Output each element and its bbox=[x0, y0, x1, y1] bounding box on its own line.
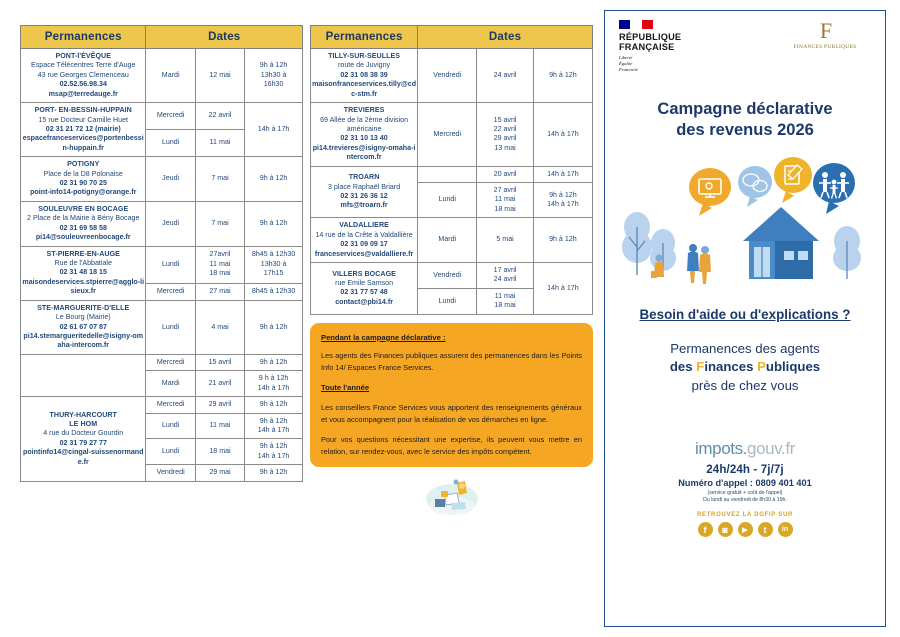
cell-line: ST-PIERRE-EN-AUGE bbox=[22, 250, 144, 259]
slot-date-cell: 15 avril bbox=[195, 354, 244, 370]
instagram-icon[interactable]: ◙ bbox=[718, 522, 733, 537]
cell-line: Mercredi bbox=[147, 400, 193, 409]
slot-day-cell bbox=[418, 166, 477, 182]
cell-line: PONT-l'ÉVÊQUE bbox=[22, 52, 144, 61]
location-address: 69 Allée de la 2ème division américaine bbox=[312, 116, 416, 135]
cell-line: 29 avril bbox=[478, 134, 531, 143]
cell-line: Vendredi bbox=[147, 468, 193, 477]
location-address: 14 rue de la Crête à Valdallière bbox=[312, 231, 416, 240]
col-header-permanences: Permanences bbox=[311, 26, 418, 49]
main-illustration bbox=[605, 155, 885, 305]
republic-line-2: FRANÇAISE bbox=[619, 42, 711, 52]
slot-date-cell: 29 avril bbox=[195, 397, 244, 413]
phone-note-2: Du lundi au vendredi de 8h30 à 19h. bbox=[605, 497, 885, 503]
slot-day-cell: Mercredi bbox=[146, 283, 195, 300]
cell-line: 22 avril bbox=[197, 111, 243, 120]
cell-line: 9h à 12h bbox=[246, 61, 301, 70]
cell-line: 15 avril bbox=[478, 116, 531, 125]
french-flag-icon bbox=[619, 20, 653, 29]
table-row: Mercredi15 avril9h à 12h bbox=[21, 354, 303, 370]
cell-line: 24 avril bbox=[478, 275, 531, 284]
permanence-location-cell: VALDALLIERE14 rue de la Crête à Valdalli… bbox=[311, 218, 418, 263]
slot-hours-cell: 9h à 12h bbox=[245, 465, 303, 481]
cell-line: rue Emile Samson bbox=[312, 279, 416, 288]
subtitle-des: des bbox=[670, 359, 696, 374]
cell-line: Jeudi bbox=[147, 219, 193, 228]
table-row: VALDALLIERE14 rue de la Crête à Valdalli… bbox=[311, 218, 593, 263]
cell-line: Lundi bbox=[419, 297, 475, 306]
permanence-location-cell: ST-PIERRE-EN-AUGERue de l'Abbatiale02 31… bbox=[21, 246, 146, 300]
cell-line: Rue de l'Abbatiale bbox=[22, 259, 144, 268]
left-column: Permanences Dates PONT-l'ÉVÊQUEEspace Té… bbox=[20, 25, 303, 482]
slot-day-cell: Lundi bbox=[146, 300, 195, 354]
subtitle-inances: inances bbox=[704, 359, 757, 374]
location-address: Rue de l'Abbatiale bbox=[22, 259, 144, 268]
location-email: pointinfo14@cingal-suissenormande.fr bbox=[22, 448, 144, 467]
location-address: 15 rue Docteur Camille Huet bbox=[22, 116, 144, 125]
table-header-row: Permanences Dates bbox=[21, 26, 303, 49]
slot-date-cell: 27 mai bbox=[195, 283, 244, 300]
cell-line: 9h à 12h bbox=[246, 358, 301, 367]
slot-day-cell: Lundi bbox=[146, 413, 195, 439]
cell-line: Lundi bbox=[147, 447, 193, 456]
location-phone: 02 61 67 07 87 bbox=[22, 323, 144, 332]
location-email: pi14@souleuvreenbocage.fr bbox=[22, 233, 144, 242]
location-name: SOULEUVRE EN BOCAGE bbox=[22, 205, 144, 214]
permanence-location-cell: VILLERS BOCAGErue Emile Samson02 31 77 5… bbox=[311, 263, 418, 315]
cell-line: Mercredi bbox=[147, 111, 193, 120]
slot-day-cell: Jeudi bbox=[146, 157, 195, 202]
tree-icon bbox=[833, 226, 861, 279]
cell-line: 9h à 12h bbox=[246, 174, 301, 183]
youtube-icon[interactable]: ▶ bbox=[738, 522, 753, 537]
slot-date-cell: 5 mai bbox=[477, 218, 533, 263]
cell-line: PORT- EN-BESSIN-HUPPAIN bbox=[22, 106, 144, 115]
location-email: contact@pbi14.fr bbox=[312, 298, 416, 307]
location-name: VALDALLIERE bbox=[312, 221, 416, 230]
cell-line: 8h45 à 12h30 bbox=[246, 287, 301, 296]
table-row: POTIGNYPlace de la D8 Polonaise02 31 90 … bbox=[21, 157, 303, 202]
cell-line: 17h15 bbox=[246, 269, 301, 278]
cell-line: 24 avril bbox=[478, 71, 531, 80]
col-header-dates: Dates bbox=[146, 26, 303, 49]
location-phone: 02 31 09 09 17 bbox=[312, 240, 416, 249]
slot-day-cell: Mercredi bbox=[418, 103, 477, 167]
slot-hours-cell: 9h à 12h14h à 17h bbox=[533, 183, 592, 218]
cell-line: Lundi bbox=[147, 323, 193, 332]
help-question: Besoin d'aide ou d'explications ? bbox=[605, 307, 885, 322]
cell-line: 18 mai bbox=[478, 301, 531, 310]
slot-hours-cell: 9 h à 12h14h à 17h bbox=[245, 371, 303, 397]
location-email: franceservices@valdalliere.fr bbox=[312, 250, 416, 259]
cell-line: 11 mai bbox=[197, 260, 243, 269]
permanences-table-middle: Permanences Dates TILLY-SUR-SEULLESroute… bbox=[310, 25, 593, 315]
location-name: TROARN bbox=[312, 173, 416, 182]
table-row: TROARN3 place Raphaël Briard02 31 26 36 … bbox=[311, 166, 593, 182]
location-name: PONT-l'ÉVÊQUE bbox=[22, 52, 144, 61]
location-address: Le Bourg (Mairie) bbox=[22, 313, 144, 322]
location-email: espacefranceservices@portenbessin-huppai… bbox=[22, 134, 144, 153]
slot-day-cell: Vendredi bbox=[418, 263, 477, 289]
cell-line: 14h à 17h bbox=[535, 130, 591, 139]
slot-hours-cell: 9h à 12h bbox=[245, 354, 303, 370]
location-name: PORT- EN-BESSIN-HUPPAIN bbox=[22, 106, 144, 115]
cell-line: LE HOM bbox=[22, 420, 144, 429]
cell-line: THURY-HARCOURT bbox=[22, 411, 144, 420]
people-icon bbox=[687, 244, 711, 284]
cell-line: 5 mai bbox=[478, 235, 531, 244]
permanence-location-cell: TILLY-SUR-SEULLESroute de Juvigny02 31 0… bbox=[311, 49, 418, 103]
info-para-3: Pour vos questions nécessitant une exper… bbox=[321, 434, 582, 457]
cell-line: 27 avril bbox=[478, 186, 531, 195]
table-row: ST-PIERRE-EN-AUGERue de l'Abbatiale02 31… bbox=[21, 246, 303, 283]
middle-column: Permanences Dates TILLY-SUR-SEULLESroute… bbox=[310, 25, 593, 522]
brochure-page: Permanences Dates PONT-l'ÉVÊQUEEspace Té… bbox=[0, 0, 900, 637]
slot-date-cell: 7 mai bbox=[195, 157, 244, 202]
location-name: ST-PIERRE-EN-AUGE bbox=[22, 250, 144, 259]
cell-line: 14h à 17h bbox=[246, 125, 301, 134]
speech-bubble-screen bbox=[689, 168, 731, 216]
slot-date-cell: 11 mai bbox=[195, 413, 244, 439]
table-header-row: Permanences Dates bbox=[311, 26, 593, 49]
subtitle-p: P bbox=[757, 359, 766, 374]
title-line-2: des revenus 2026 bbox=[615, 120, 875, 141]
cell-line: Le Bourg (Mairie) bbox=[22, 313, 144, 322]
permanence-location-cell: POTIGNYPlace de la D8 Polonaise02 31 90 … bbox=[21, 157, 146, 202]
cell-line: 9h à 12h bbox=[535, 191, 591, 200]
permanence-location-cell: STE-MARGUERITE-D'ELLELe Bourg (Mairie)02… bbox=[21, 300, 146, 354]
slot-date-cell: 21 avril bbox=[195, 371, 244, 397]
cell-line: Vendredi bbox=[419, 71, 475, 80]
permanence-location-cell: TROARN3 place Raphaël Briard02 31 26 36 … bbox=[311, 166, 418, 218]
location-address: rue Emile Samson bbox=[312, 279, 416, 288]
cell-line: route de Juvigny bbox=[312, 61, 416, 70]
twitter-icon[interactable]: t bbox=[758, 522, 773, 537]
permanences-table-left: Permanences Dates PONT-l'ÉVÊQUEEspace Té… bbox=[20, 25, 303, 482]
slot-hours-cell: 9h à 12h14h à 17h bbox=[245, 439, 303, 465]
slot-day-cell: Mardi bbox=[418, 218, 477, 263]
cell-line: Jeudi bbox=[147, 174, 193, 183]
panel-subtitle: Permanences des agents des Finances Publ… bbox=[605, 340, 885, 395]
website-logo[interactable]: impots.gouv.fr bbox=[605, 439, 885, 459]
location-phone: 02 31 21 72 12 (mairie) bbox=[22, 125, 144, 134]
cell-line: 14h à 17h bbox=[246, 426, 301, 435]
slot-date-cell: 17 avril24 avril bbox=[477, 263, 533, 289]
info-heading-1: Pendant la campagne déclarative : bbox=[321, 332, 582, 344]
cell-line: 9 h à 12h bbox=[246, 374, 301, 383]
subtitle-line-2: des Finances Publiques bbox=[605, 358, 885, 376]
cell-line: 43 rue Georges Clemenceau bbox=[22, 71, 144, 80]
location-address: Espace Télécentres Terre d'Auge43 rue Ge… bbox=[22, 61, 144, 80]
cell-line: 11 mai bbox=[197, 421, 243, 430]
slot-hours-cell: 14h à 17h bbox=[245, 103, 303, 157]
permanence-location-cell: THURY-HARCOURTLE HOM4 rue du Docteur Gou… bbox=[21, 397, 146, 482]
slot-date-cell: 12 mai bbox=[195, 49, 244, 103]
cell-line: SOULEUVRE EN BOCAGE bbox=[22, 205, 144, 214]
location-address: 4 rue du Docteur Gourdin bbox=[22, 429, 144, 438]
speech-bubble-chat bbox=[738, 166, 772, 207]
title-line-1: Campagne déclarative bbox=[615, 99, 875, 120]
cell-line: 29 avril bbox=[197, 400, 243, 409]
location-name: TILLY-SUR-SEULLES bbox=[312, 52, 416, 61]
subtitle-line-3: près de chez vous bbox=[605, 377, 885, 395]
cell-line: 12 mai bbox=[197, 71, 243, 80]
site-gouv: gouv.fr bbox=[747, 439, 795, 458]
cell-line: 15 rue Docteur Camille Huet bbox=[22, 116, 144, 125]
cell-line: 4 rue du Docteur Gourdin bbox=[22, 429, 144, 438]
cell-line: 29 mai bbox=[197, 468, 243, 477]
slot-hours-cell: 9h à 12h bbox=[533, 218, 592, 263]
cell-line: 21 avril bbox=[197, 379, 243, 388]
location-name: POTIGNY bbox=[22, 160, 144, 169]
location-phone: 02 31 10 13 40 bbox=[312, 134, 416, 143]
slot-hours-cell: 9h à 12h bbox=[245, 300, 303, 354]
cell-line: 15 avril bbox=[197, 358, 243, 367]
availability: 24h/24h - 7j/7j bbox=[605, 463, 885, 476]
slot-day-cell: Mardi bbox=[146, 371, 195, 397]
cell-line: 7 mai bbox=[197, 174, 243, 183]
phone-note: (service gratuit + coût de l'appel) bbox=[605, 490, 885, 496]
slot-day-cell: Vendredi bbox=[146, 465, 195, 481]
cell-line: Vendredi bbox=[419, 271, 475, 280]
tree-icon bbox=[622, 212, 652, 275]
table-row: THURY-HARCOURTLE HOM4 rue du Docteur Gou… bbox=[21, 397, 303, 413]
cell-line: Lundi bbox=[147, 421, 193, 430]
table-row: STE-MARGUERITE-D'ELLELe Bourg (Mairie)02… bbox=[21, 300, 303, 354]
site-impots: impots. bbox=[695, 439, 747, 458]
cell-line: 27avril bbox=[197, 250, 243, 259]
cell-line: 9h à 12h bbox=[246, 400, 301, 409]
location-address: route de Juvigny bbox=[312, 61, 416, 70]
location-email: mfs@troarn.fr bbox=[312, 201, 416, 210]
cell-line: 11 mai bbox=[197, 138, 243, 147]
cell-line: 8h45 à 12h30 bbox=[246, 250, 301, 259]
slot-date-cell: 7 mai bbox=[195, 201, 244, 246]
info-box: Pendant la campagne déclarative : Les ag… bbox=[310, 323, 593, 467]
slot-day-cell: Mercredi bbox=[146, 354, 195, 370]
cell-line: TREVIERES bbox=[312, 106, 416, 115]
slot-date-cell: 11 mai bbox=[195, 130, 244, 157]
slot-day-cell: Mercredi bbox=[146, 397, 195, 413]
table-row: SOULEUVRE EN BOCAGE2 Place de la Mairie … bbox=[21, 201, 303, 246]
cell-line: TROARN bbox=[312, 173, 416, 182]
table-row: TREVIERES69 Allée de la 2ème division am… bbox=[311, 103, 593, 167]
slot-day-cell: Lundi bbox=[418, 288, 477, 314]
table-row: VILLERS BOCAGErue Emile Samson02 31 77 5… bbox=[311, 263, 593, 289]
slot-hours-cell: 9h à 12h bbox=[245, 157, 303, 202]
slot-hours-cell: 14h à 17h bbox=[533, 166, 592, 182]
cell-line: Mardi bbox=[419, 235, 475, 244]
cell-line: 69 Allée de la 2ème division américaine bbox=[312, 116, 416, 135]
cell-line: Mardi bbox=[147, 379, 193, 388]
location-phone: 02 31 77 57 48 bbox=[312, 288, 416, 297]
cell-line: 27 mai bbox=[197, 287, 243, 296]
dgfip-label: FINANCES PUBLIQUES bbox=[779, 44, 871, 50]
info-para-2: Les conseillers France Services vous app… bbox=[321, 402, 582, 425]
cell-line: Place de la D8 Polonaise bbox=[22, 170, 144, 179]
social-label: RETROUVEZ LA DGFIP SUR bbox=[605, 512, 885, 518]
slot-date-cell: 27 avril11 mai18 mai bbox=[477, 183, 533, 218]
permanence-location-cell: SOULEUVRE EN BOCAGE2 Place de la Mairie … bbox=[21, 201, 146, 246]
slot-date-cell: 15 avril22 avril29 avril13 mai bbox=[477, 103, 533, 167]
slot-day-cell: Lundi bbox=[146, 246, 195, 283]
devise: Liberté Égalité Fraternité bbox=[619, 55, 711, 74]
panel-header: RÉPUBLIQUE FRANÇAISE Liberté Égalité Fra… bbox=[605, 11, 885, 73]
location-phone: 02 31 79 27 77 bbox=[22, 439, 144, 448]
slot-date-cell: 20 avril bbox=[477, 166, 533, 182]
location-email: pi14.stemargueritedelle@isigny-omaha-int… bbox=[22, 332, 144, 351]
social-block: RETROUVEZ LA DGFIP SUR f◙▶tin bbox=[605, 512, 885, 537]
cell-line: Espace Télécentres Terre d'Auge bbox=[22, 61, 144, 70]
cell-line: VILLERS BOCAGE bbox=[312, 270, 416, 279]
cell-line: Lundi bbox=[419, 195, 475, 204]
cell-line: 14h à 17h bbox=[535, 170, 591, 179]
speech-bubble-document bbox=[774, 157, 812, 203]
location-name: VILLERS BOCAGE bbox=[312, 270, 416, 279]
facebook-icon[interactable]: f bbox=[698, 522, 713, 537]
slot-hours-cell: 9h à 12h13h30 à16h30 bbox=[245, 49, 303, 103]
location-email: maisondeservices.stpierre@agglo-lisieux.… bbox=[22, 278, 144, 297]
slot-date-cell: 11 mai18 mai bbox=[477, 288, 533, 314]
left-table-body: PONT-l'ÉVÊQUEEspace Télécentres Terre d'… bbox=[21, 49, 303, 482]
slot-day-cell: Vendredi bbox=[418, 49, 477, 103]
slot-day-cell: Mardi bbox=[146, 49, 195, 103]
cell-line: 14h à 17h bbox=[246, 384, 301, 393]
dgfip-monogram-icon: F bbox=[779, 20, 871, 42]
dgfip-logo: F FINANCES PUBLIQUES bbox=[779, 20, 871, 50]
cell-line: 2 Place de la Mairie à Bény Bocage bbox=[22, 214, 144, 223]
slot-hours-cell: 9h à 12h bbox=[533, 49, 592, 103]
cell-line: 13h30 à bbox=[246, 260, 301, 269]
location-name: THURY-HARCOURTLE HOM bbox=[22, 411, 144, 430]
slot-hours-cell: 14h à 17h bbox=[533, 103, 592, 167]
cell-line: 18 mai bbox=[197, 269, 243, 278]
subtitle-ubliques: ubliques bbox=[766, 359, 820, 374]
location-email: msap@terredauge.fr bbox=[22, 90, 144, 99]
slot-date-cell: 24 avril bbox=[477, 49, 533, 103]
laptop-desk-icon bbox=[421, 473, 483, 517]
slot-day-cell: Mercredi bbox=[146, 103, 195, 130]
location-name: TREVIERES bbox=[312, 106, 416, 115]
social-icons: f◙▶tin bbox=[605, 522, 885, 537]
slot-date-cell: 22 avril bbox=[195, 103, 244, 130]
info-heading-2: Toute l'année bbox=[321, 382, 582, 394]
cell-line: VALDALLIERE bbox=[312, 221, 416, 230]
cell-line: POTIGNY bbox=[22, 160, 144, 169]
slot-hours-cell: 9h à 12h bbox=[245, 201, 303, 246]
cell-line: Lundi bbox=[147, 138, 193, 147]
linkedin-icon[interactable]: in bbox=[778, 522, 793, 537]
devise-fraternite: Fraternité bbox=[619, 67, 711, 73]
slot-day-cell: Lundi bbox=[418, 183, 477, 218]
permanence-location-cell: PORT- EN-BESSIN-HUPPAIN15 rue Docteur Ca… bbox=[21, 103, 146, 157]
location-email: pi14.trevieres@isigny-omaha-intercom.fr bbox=[312, 144, 416, 163]
cell-line: 3 place Raphaël Briard bbox=[312, 183, 416, 192]
cell-line: 7 mai bbox=[197, 219, 243, 228]
location-phone: 02 31 08 38 39 bbox=[312, 71, 416, 80]
phone-number: Numéro d'appel : 0809 401 401 bbox=[605, 478, 885, 488]
location-phone: 02 31 26 36 12 bbox=[312, 192, 416, 201]
col-header-permanences: Permanences bbox=[21, 26, 146, 49]
middle-table-body: TILLY-SUR-SEULLESroute de Juvigny02 31 0… bbox=[311, 49, 593, 315]
cell-line: 11 mai bbox=[478, 195, 531, 204]
house-icon bbox=[743, 207, 819, 279]
permanence-location-cell: PONT-l'ÉVÊQUEEspace Télécentres Terre d'… bbox=[21, 49, 146, 103]
cell-line: 13h30 à bbox=[246, 71, 301, 80]
cell-line: 9h à 12h bbox=[246, 417, 301, 426]
location-address: 3 place Raphaël Briard bbox=[312, 183, 416, 192]
desk-illustration bbox=[310, 473, 593, 522]
help-scene-icon bbox=[605, 155, 887, 305]
slot-hours-cell: 8h45 à 12h30 bbox=[245, 283, 303, 300]
cell-line: STE-MARGUERITE-D'ELLE bbox=[22, 304, 144, 313]
cell-line: 11 mai bbox=[478, 292, 531, 301]
cell-line: 17 avril bbox=[478, 266, 531, 275]
cell-line: 9h à 12h bbox=[246, 468, 301, 477]
location-address: Place de la D8 Polonaise bbox=[22, 170, 144, 179]
right-panel: RÉPUBLIQUE FRANÇAISE Liberté Égalité Fra… bbox=[604, 10, 886, 627]
cell-line: 9h à 12h bbox=[535, 71, 591, 80]
cell-line: 20 avril bbox=[478, 170, 531, 179]
slot-day-cell: Lundi bbox=[146, 439, 195, 465]
slot-day-cell: Jeudi bbox=[146, 201, 195, 246]
cell-line: 22 avril bbox=[478, 125, 531, 134]
cell-line: 9h à 12h bbox=[246, 323, 301, 332]
panel-title: Campagne déclarative des revenus 2026 bbox=[605, 99, 885, 141]
contact-block: 24h/24h - 7j/7j Numéro d'appel : 0809 40… bbox=[605, 463, 885, 503]
cell-line: 18 mai bbox=[197, 447, 243, 456]
speech-bubble-family bbox=[813, 163, 855, 214]
cell-line: Lundi bbox=[147, 260, 193, 269]
republique-francaise-logo: RÉPUBLIQUE FRANÇAISE Liberté Égalité Fra… bbox=[619, 20, 711, 73]
cell-line: 14h à 17h bbox=[246, 452, 301, 461]
cell-line: Mercredi bbox=[147, 358, 193, 367]
cell-line: 18 mai bbox=[478, 205, 531, 214]
republic-line-1: RÉPUBLIQUE bbox=[619, 32, 711, 42]
permanence-location-cell bbox=[21, 354, 146, 396]
slot-date-cell: 29 mai bbox=[195, 465, 244, 481]
location-phone: 02.52.56.98.34 bbox=[22, 80, 144, 89]
cell-line: 14h à 17h bbox=[535, 200, 591, 209]
slot-date-cell: 27avril11 mai18 mai bbox=[195, 246, 244, 283]
table-row: PONT-l'ÉVÊQUEEspace Télécentres Terre d'… bbox=[21, 49, 303, 103]
cell-line: Mercredi bbox=[147, 287, 193, 296]
subtitle-line-1: Permanences des agents bbox=[605, 340, 885, 358]
cell-line: Mardi bbox=[147, 71, 193, 80]
cell-line: 16h30 bbox=[246, 80, 301, 89]
slot-hours-cell: 8h45 à 12h3013h30 à17h15 bbox=[245, 246, 303, 283]
location-email: point-info14-potigny@orange.fr bbox=[22, 188, 144, 197]
location-email: maisonfranceservices.tilly@cdc-stm.fr bbox=[312, 80, 416, 99]
cell-line: 14h à 17h bbox=[535, 284, 591, 293]
location-address: 2 Place de la Mairie à Bény Bocage bbox=[22, 214, 144, 223]
col-header-dates: Dates bbox=[418, 26, 593, 49]
location-name: STE-MARGUERITE-D'ELLE bbox=[22, 304, 144, 313]
cell-line: 13 mai bbox=[478, 144, 531, 153]
info-para-1: Les agents des Finances publiques assure… bbox=[321, 350, 582, 373]
slot-hours-cell: 9h à 12h bbox=[245, 397, 303, 413]
table-row: TILLY-SUR-SEULLESroute de Juvigny02 31 0… bbox=[311, 49, 593, 103]
slot-date-cell: 18 mai bbox=[195, 439, 244, 465]
slot-day-cell: Lundi bbox=[146, 130, 195, 157]
cell-line: Mercredi bbox=[419, 130, 475, 139]
location-phone: 02 31 90 70 25 bbox=[22, 179, 144, 188]
slot-date-cell: 4 mai bbox=[195, 300, 244, 354]
cell-line: 9h à 12h bbox=[246, 442, 301, 451]
cell-line: 4 mai bbox=[197, 323, 243, 332]
location-phone: 02 31 69 58 58 bbox=[22, 224, 144, 233]
cell-line: TILLY-SUR-SEULLES bbox=[312, 52, 416, 61]
